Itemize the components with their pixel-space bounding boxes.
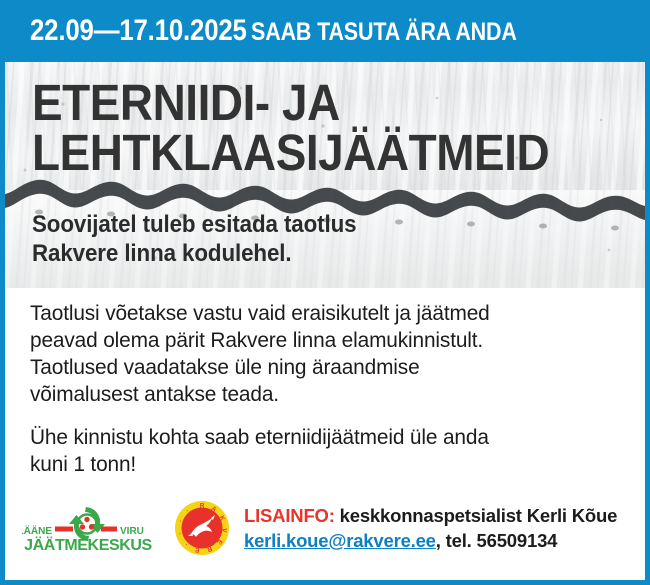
contact-info: LISAINFO: keskkonnaspetsialist Kerli Kõu… — [244, 503, 634, 553]
frame-border-right — [645, 0, 650, 585]
hero-subheading: Soovijatel tuleb esitada taotlus Rakvere… — [32, 210, 356, 268]
svg-text:R: R — [200, 502, 205, 509]
contact-person: keskkonnaspetsialist Kerli Kõue — [335, 505, 618, 526]
recycling-arrows-icon — [69, 507, 105, 541]
body-paragraph-2: Ühe kinnistu kohta saab eterniidijäätmei… — [30, 424, 602, 478]
frame-border-bottom — [0, 580, 650, 585]
date-banner-caption: SAAB TASUTA ÄRA ANDA — [251, 18, 517, 46]
lisainfo-label: LISAINFO: — [244, 505, 335, 526]
email-link[interactable]: kerli.koue@rakvere.ee — [244, 530, 436, 551]
date-banner: 22.09—17.10.2025SAAB TASUTA ÄRA ANDA — [0, 0, 650, 62]
corrugated-sheet-photo: ETERNIIDI- JA LEHTKLAASIJÄÄTMEID Soovija… — [5, 62, 645, 288]
advertisement-poster: 22.09—17.10.2025SAAB TASUTA ÄRA ANDA — [0, 0, 650, 585]
page-title: ETERNIIDI- JA LEHTKLAASIJÄÄTMEID — [32, 78, 549, 178]
body-copy: Taotlusi võetakse vastu vaid eraisikutel… — [30, 300, 620, 478]
contact-phone: , tel. 56509134 — [436, 530, 557, 551]
date-banner-text: 22.09—17.10.2025SAAB TASUTA ÄRA ANDA — [30, 14, 517, 48]
logo-word-jaatmekeskus: JÄÄTMEKESKUS — [24, 536, 152, 552]
rakvere-city-seal: R A K V E R E · · · · — [174, 500, 230, 556]
logo-bar-right — [101, 527, 117, 532]
footer: LÄÄNE VIRU JÄÄTMEKESKUS R A K V E R E · … — [22, 498, 632, 560]
frame-border-left — [0, 0, 5, 585]
date-range: 22.09—17.10.2025 — [30, 14, 247, 47]
laane-viru-jaatmekeskus-logo: LÄÄNE VIRU JÄÄTMEKESKUS — [22, 500, 154, 552]
contact-line-email: kerli.koue@rakvere.ee, tel. 56509134 — [244, 528, 634, 553]
logo-bar-left — [55, 527, 73, 532]
body-paragraph-1: Taotlusi võetakse vastu vaid eraisikutel… — [30, 300, 602, 408]
logo-word-laane: LÄÄNE — [22, 524, 52, 537]
logo-word-viru: VIRU — [120, 526, 144, 537]
contact-line-person: LISAINFO: keskkonnaspetsialist Kerli Kõu… — [244, 503, 634, 528]
